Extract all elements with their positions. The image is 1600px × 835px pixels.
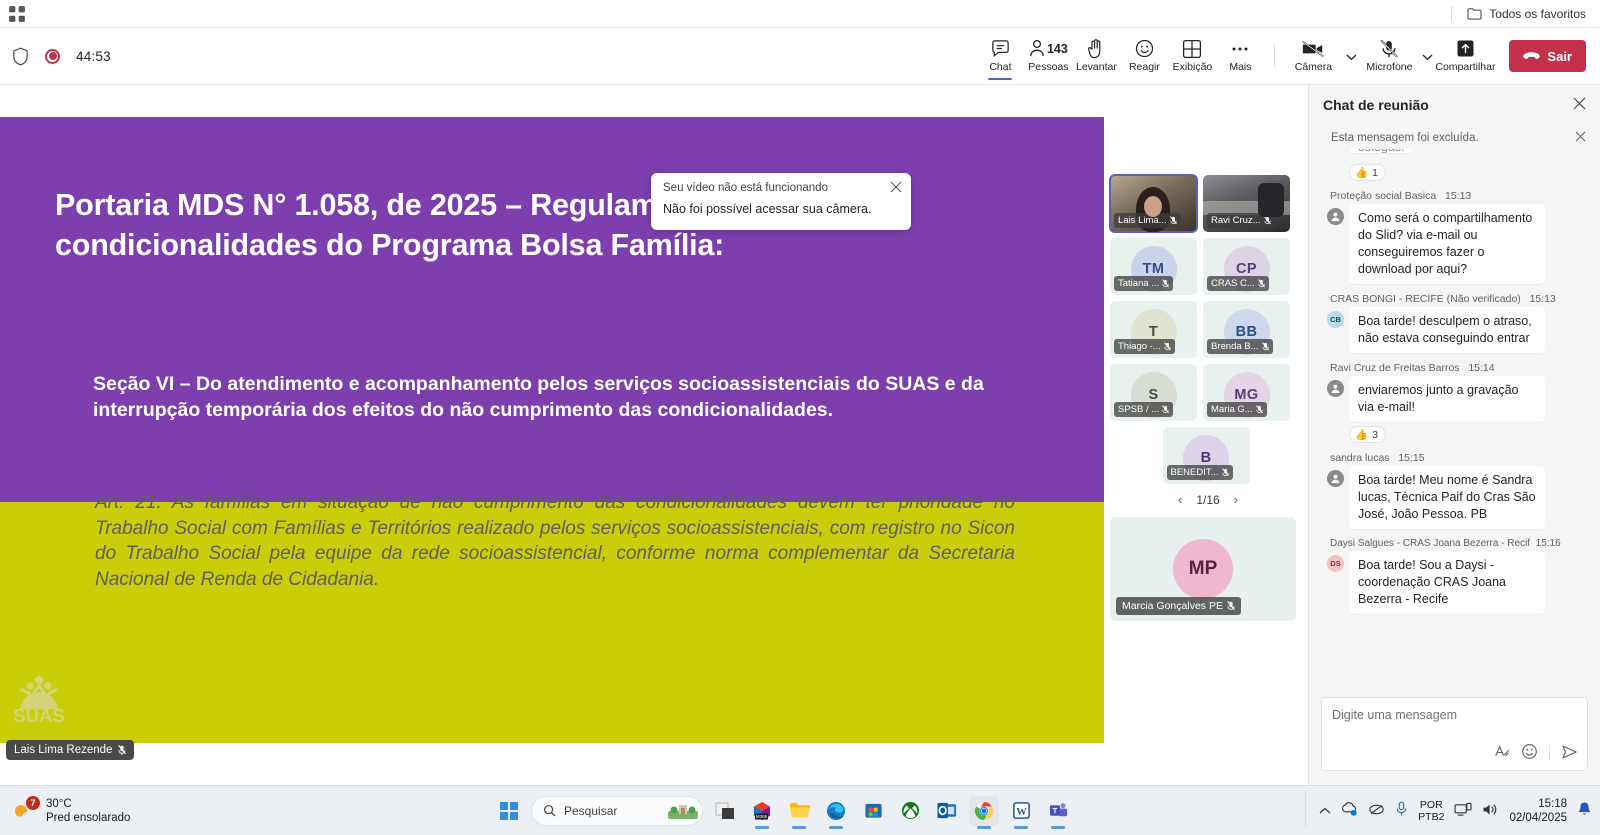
- camera-off-icon: [1301, 38, 1325, 59]
- composer-tools: [1494, 743, 1578, 763]
- mic-blocked-icon[interactable]: [1368, 803, 1385, 819]
- toolbar-button-react[interactable]: Reagir: [1120, 35, 1168, 77]
- avatar: [1327, 208, 1344, 225]
- grid-view-icon: [1182, 38, 1202, 59]
- participant-name: CRAS C...: [1211, 278, 1255, 289]
- chat-message: colegas. 👍 1: [1327, 149, 1586, 181]
- participant-name: Marcia Gonçalves PE: [1122, 600, 1223, 612]
- system-tray: POR PTB2 15:18 02/04/2025: [1319, 797, 1592, 825]
- task-view-icon[interactable]: [710, 796, 740, 826]
- toolbar-button-view[interactable]: Exibição: [1168, 35, 1216, 77]
- avatar: [1327, 380, 1344, 397]
- bell-icon[interactable]: [1577, 801, 1592, 820]
- people-icon-group: 143: [1029, 38, 1068, 59]
- ellipsis-icon: [1230, 38, 1250, 59]
- message-author: sandra lucas: [1330, 452, 1390, 464]
- windows-taskbar: 7 30°C Pred ensolarado Pesquisar: [0, 785, 1600, 835]
- meeting-status-group: 44:53: [0, 47, 111, 66]
- mic-muted-icon: [1264, 216, 1271, 226]
- search-placeholder: Pesquisar: [564, 804, 617, 818]
- svg-text:SUAS: SUAS: [13, 705, 65, 726]
- mic-muted-icon: [1258, 279, 1265, 289]
- toast-body: Não foi possível acessar sua câmera.: [663, 202, 899, 216]
- message-text: Boa tarde! Meu nome é Sandra lucas, Técn…: [1349, 466, 1545, 529]
- avatar: CB: [1327, 311, 1344, 328]
- send-icon[interactable]: [1561, 744, 1578, 763]
- participant-name: BENEDIT...: [1171, 467, 1219, 478]
- sun-cloud-icon: 7: [12, 799, 38, 823]
- shared-slide[interactable]: Portaria MDS N° 1.058, de 2025 – Regulam…: [0, 117, 1104, 743]
- meeting-toolbar: 44:53 Chat 143: [0, 28, 1600, 85]
- participant-tile[interactable]: CP CRAS C...: [1203, 238, 1290, 295]
- message-row: CB Boa tarde! desculpem o atraso, não es…: [1327, 307, 1586, 353]
- participant-tile[interactable]: B BENEDIT...: [1163, 427, 1250, 484]
- participant-tile[interactable]: S SPSB / ...: [1110, 364, 1197, 421]
- message-author: Proteção social Basica: [1330, 190, 1436, 202]
- divider: [1451, 6, 1452, 21]
- participant-name-badge: Brenda B...: [1207, 339, 1273, 354]
- message-input-placeholder: Digite uma mensagem: [1332, 708, 1577, 722]
- hangup-icon: [1523, 51, 1540, 62]
- microsoft-store-icon[interactable]: [858, 796, 888, 826]
- mic-muted-icon: [1162, 279, 1169, 289]
- deleted-message-text: Esta mensagem foi excluída.: [1331, 132, 1479, 144]
- microphone-icon[interactable]: [1395, 801, 1408, 820]
- participant-tile[interactable]: TM Tatiana ...: [1110, 238, 1197, 295]
- message-row: enviaremos junto a gravação via e-mail!: [1327, 376, 1586, 422]
- message-meta: Proteção social Basica 15:13: [1327, 190, 1586, 202]
- message-text: Boa tarde! Sou a Daysi - coordenação CRA…: [1349, 551, 1545, 614]
- share-screen-icon: [1456, 38, 1475, 59]
- message-time: 15:16: [1536, 538, 1561, 549]
- message-author: CRAS BONGI - RECIFE (Não verificado): [1330, 293, 1521, 305]
- mic-muted-icon: [1256, 405, 1263, 415]
- edge-icon[interactable]: [821, 796, 851, 826]
- leave-button[interactable]: Sair: [1509, 40, 1586, 72]
- file-explorer-icon[interactable]: [784, 796, 814, 826]
- person-icon: [1330, 473, 1341, 484]
- mic-muted-icon: [1164, 342, 1171, 352]
- message-time: 15:13: [1445, 190, 1471, 202]
- weather-text: 30°C Pred ensolarado: [46, 797, 130, 825]
- participant-name-badge: CRAS C...: [1207, 276, 1269, 291]
- weather-temp: 30°C: [46, 797, 130, 811]
- toolbar-label-microphone: Microfone: [1366, 61, 1412, 73]
- participant-name: Ravi Cruz...: [1211, 215, 1261, 226]
- toolbar-button-chat[interactable]: Chat: [976, 35, 1024, 77]
- taskbar-apps: Pesquisar: [494, 796, 1073, 826]
- participant-name-badge: SPSB / ...: [1114, 402, 1173, 417]
- message-row: Como será o compartilhamento do Slid? vi…: [1327, 204, 1586, 284]
- meeting-stage: Portaria MDS N° 1.058, de 2025 – Regulam…: [0, 85, 1308, 785]
- word-icon[interactable]: W: [1006, 796, 1036, 826]
- raise-hand-icon: [1087, 38, 1105, 59]
- presenter-name-badge: Lais Lima Rezende: [6, 740, 134, 760]
- chrome-icon[interactable]: [969, 796, 999, 826]
- divider: [1549, 745, 1550, 761]
- close-icon[interactable]: [1573, 97, 1586, 113]
- participant-tiles: Lais Lima... Ravi Cruz... TM Tatiana ...: [1110, 175, 1302, 484]
- close-icon[interactable]: [890, 181, 902, 196]
- reaction-badge[interactable]: 👍 1: [1349, 164, 1386, 181]
- toolbar-label-people: Pessoas: [1028, 61, 1068, 73]
- chevron-right-icon[interactable]: ›: [1234, 492, 1238, 507]
- search-input[interactable]: Pesquisar: [531, 796, 703, 826]
- participant-name: Lais Lima...: [1118, 215, 1167, 226]
- participant-tile[interactable]: Lais Lima...: [1110, 175, 1197, 232]
- reaction-count: 3: [1372, 429, 1378, 441]
- message-author: Ravi Cruz de Freitas Barros: [1330, 362, 1460, 374]
- avatar: [1327, 470, 1344, 487]
- message-row: DS Boa tarde! Sou a Daysi - coordenação …: [1327, 551, 1586, 614]
- microsoft-365-icon[interactable]: M365: [747, 796, 777, 826]
- search-icon: [543, 804, 556, 817]
- message-row: colegas.: [1327, 149, 1586, 160]
- grid-apps-icon: [8, 5, 26, 23]
- camera-options-chevron-down-icon[interactable]: [1341, 54, 1361, 77]
- mic-muted-icon: [1262, 342, 1269, 352]
- participant-name-badge: Maria G...: [1207, 402, 1267, 417]
- participant-name-badge: Ravi Cruz...: [1207, 213, 1275, 228]
- message-text: Boa tarde! desculpem o atraso, não estav…: [1349, 307, 1545, 353]
- leave-group: Sair: [1493, 40, 1600, 72]
- chat-message: Daysi Salgues - CRAS Joana Bezerra - Rec…: [1327, 538, 1586, 614]
- message-text: Como será o compartilhamento do Slid? vi…: [1349, 204, 1545, 284]
- participant-tile[interactable]: T Thiago -...: [1110, 301, 1197, 358]
- language-indicator[interactable]: POR PTB2: [1418, 799, 1444, 823]
- mic-muted-icon: [1227, 601, 1235, 612]
- browser-favorites-bar: Todos os favoritos: [0, 0, 1600, 28]
- clock-time: 15:18: [1509, 797, 1567, 811]
- toolbar-divider: [1274, 43, 1275, 67]
- screen-root: Todos os favoritos 44:53 Chat: [0, 0, 1600, 835]
- camera-error-toast: Seu vídeo não está funcionando Não foi p…: [651, 173, 911, 230]
- message-time: 15:13: [1530, 293, 1556, 305]
- toolbar-label-react: Reagir: [1129, 61, 1160, 73]
- thumbs-up-icon: 👍: [1355, 166, 1368, 179]
- toolbar-label-more: Mais: [1229, 61, 1251, 73]
- language-line-2: PTB2: [1418, 811, 1444, 823]
- message-author: Daysi Salgues - CRAS Joana Bezerra - Rec…: [1330, 538, 1530, 549]
- deleted-message-note: Esta mensagem foi excluída.: [1309, 125, 1600, 149]
- message-meta: Daysi Salgues - CRAS Joana Bezerra - Rec…: [1327, 538, 1586, 549]
- reaction-badge[interactable]: 👍 3: [1349, 426, 1386, 443]
- person-icon: [1330, 211, 1341, 222]
- svg-text:M365: M365: [756, 814, 768, 819]
- mic-muted-icon: [118, 745, 126, 756]
- slide-article-text: Art. 21. As famílias em situação de não …: [95, 490, 1015, 592]
- divider: [1305, 791, 1306, 827]
- people-count: 143: [1047, 42, 1068, 56]
- message-meta: CRAS BONGI - RECIFE (Não verificado) 15:…: [1327, 293, 1586, 305]
- participant-tile[interactable]: BB Brenda B...: [1203, 301, 1290, 358]
- toolbar-button-camera[interactable]: Câmera: [1285, 35, 1341, 77]
- mic-off-icon: [1379, 38, 1399, 59]
- participant-name-badge: Tatiana ...: [1114, 276, 1173, 291]
- svg-text:T: T: [1052, 806, 1057, 815]
- chat-message: Ravi Cruz de Freitas Barros 15:14 enviar…: [1327, 362, 1586, 443]
- toolbar-button-raise-hand[interactable]: Levantar: [1072, 35, 1120, 77]
- smiley-icon: [1134, 38, 1155, 59]
- folder-icon: [1467, 7, 1482, 20]
- reaction-count: 1: [1372, 167, 1378, 179]
- favorites-entry[interactable]: Todos os favoritos: [1451, 6, 1600, 21]
- meeting-chat-panel: Chat de reunião Esta mensagem foi excluí…: [1308, 85, 1600, 785]
- toolbar-label-raise-hand: Levantar: [1076, 61, 1117, 73]
- message-text: enviaremos junto a gravação via e-mail!: [1349, 376, 1545, 422]
- message-meta: Ravi Cruz de Freitas Barros 15:14: [1327, 362, 1586, 374]
- participant-tile[interactable]: MG Maria G...: [1203, 364, 1290, 421]
- avatar: [1327, 149, 1344, 160]
- presenter-name-label: Lais Lima Rezende: [14, 744, 112, 756]
- svg-text:W: W: [1016, 807, 1027, 818]
- format-text-icon[interactable]: [1494, 744, 1510, 762]
- taskbar-art-icon: [668, 803, 698, 819]
- clock-date: 02/04/2025: [1509, 811, 1567, 825]
- meeting-controls: Chat 143 Pessoas Levantar: [976, 35, 1493, 77]
- participant-name: SPSB / ...: [1118, 404, 1159, 415]
- slide-section-heading: Seção VI – Do atendimento e acompanhamen…: [93, 372, 993, 423]
- participant-name-badge: Marcia Gonçalves PE: [1116, 597, 1241, 615]
- mic-muted-icon: [1222, 468, 1229, 478]
- spotlight-tile[interactable]: MP Marcia Gonçalves PE: [1110, 517, 1296, 621]
- volume-icon[interactable]: [1482, 802, 1499, 820]
- toolbar-button-more[interactable]: Mais: [1216, 35, 1264, 77]
- close-icon[interactable]: [1575, 131, 1586, 145]
- weather-badge: 7: [26, 796, 40, 810]
- participant-name-badge: Lais Lima...: [1114, 213, 1181, 228]
- favorites-label: Todos os favoritos: [1489, 7, 1586, 21]
- participant-roster: Lais Lima... Ravi Cruz... TM Tatiana ...: [1110, 175, 1306, 621]
- participant-name: Brenda B...: [1211, 341, 1259, 352]
- leave-button-label: Sair: [1547, 49, 1572, 64]
- shield-icon[interactable]: [12, 47, 29, 66]
- teams-icon[interactable]: T: [1043, 796, 1073, 826]
- chevron-left-icon[interactable]: ‹: [1178, 492, 1182, 507]
- toolbar-button-share[interactable]: Compartilhar: [1437, 35, 1493, 77]
- toolbar-label-camera: Câmera: [1295, 61, 1332, 73]
- outlook-icon[interactable]: [932, 796, 962, 826]
- meeting-timer: 44:53: [76, 49, 111, 64]
- onedrive-sync-icon[interactable]: [1341, 802, 1358, 820]
- message-row: Boa tarde! Meu nome é Sandra lucas, Técn…: [1327, 466, 1586, 529]
- participant-name-badge: BENEDIT...: [1167, 465, 1233, 480]
- chat-message: Proteção social Basica 15:13 Como será o…: [1327, 190, 1586, 284]
- chat-compose-area: Digite uma mensagem: [1309, 689, 1600, 785]
- chat-header: Chat de reunião: [1309, 85, 1600, 125]
- roster-pager: ‹ 1/16 ›: [1110, 492, 1306, 507]
- suas-logo-icon: SUAS: [8, 671, 70, 733]
- network-icon[interactable]: [1454, 802, 1472, 820]
- avatar: MP: [1173, 539, 1233, 599]
- mic-muted-icon: [1162, 405, 1169, 415]
- chat-message: sandra lucas 15:15 Boa tarde! Meu nome é…: [1327, 452, 1586, 529]
- toolbar-label-view: Exibição: [1173, 61, 1213, 73]
- thumbs-up-icon: 👍: [1355, 428, 1368, 441]
- participant-name: Tatiana ...: [1118, 278, 1159, 289]
- toast-title: Seu vídeo não está funcionando: [663, 182, 899, 194]
- emoji-icon[interactable]: [1521, 743, 1538, 763]
- message-input[interactable]: Digite uma mensagem: [1321, 697, 1588, 771]
- weather-widget[interactable]: 7 30°C Pred ensolarado: [0, 797, 130, 825]
- clock[interactable]: 15:18 02/04/2025: [1509, 797, 1567, 825]
- chat-message-list[interactable]: colegas. 👍 1 Proteção social Basica 15:1…: [1309, 149, 1600, 689]
- person-icon: [1330, 383, 1341, 394]
- avatar: DS: [1327, 555, 1344, 572]
- toolbar-button-microphone[interactable]: Microfone: [1361, 35, 1417, 77]
- chat-title: Chat de reunião: [1323, 97, 1429, 113]
- message-meta: sandra lucas 15:15: [1327, 452, 1586, 464]
- toolbar-label-share: Compartilhar: [1435, 61, 1495, 73]
- message-time: 15:15: [1398, 452, 1424, 464]
- windows-start-icon[interactable]: [494, 796, 524, 826]
- person-icon: [1029, 39, 1045, 58]
- weather-desc: Pred ensolarado: [46, 811, 130, 825]
- toolbar-label-chat: Chat: [989, 61, 1011, 73]
- message-text: colegas.: [1349, 149, 1414, 153]
- chevron-up-icon[interactable]: [1319, 803, 1331, 818]
- language-line-1: POR: [1418, 799, 1444, 811]
- chat-message: CRAS BONGI - RECIFE (Não verificado) 15:…: [1327, 293, 1586, 353]
- slide-purple-band: [0, 117, 1104, 502]
- recording-indicator: [45, 49, 60, 64]
- participant-name-badge: Thiago -...: [1114, 339, 1175, 354]
- mic-muted-icon: [1170, 216, 1177, 226]
- participant-name: Maria G...: [1211, 404, 1253, 415]
- message-time: 15:14: [1468, 362, 1494, 374]
- toolbar-button-people[interactable]: 143 Pessoas: [1024, 35, 1072, 77]
- roster-page-indicator: 1/16: [1196, 493, 1219, 507]
- chat-bubble-icon: [990, 38, 1011, 59]
- xbox-icon[interactable]: [895, 796, 925, 826]
- apps-button[interactable]: [0, 5, 26, 23]
- participant-tile[interactable]: Ravi Cruz...: [1203, 175, 1290, 232]
- participant-name: Thiago -...: [1118, 341, 1161, 352]
